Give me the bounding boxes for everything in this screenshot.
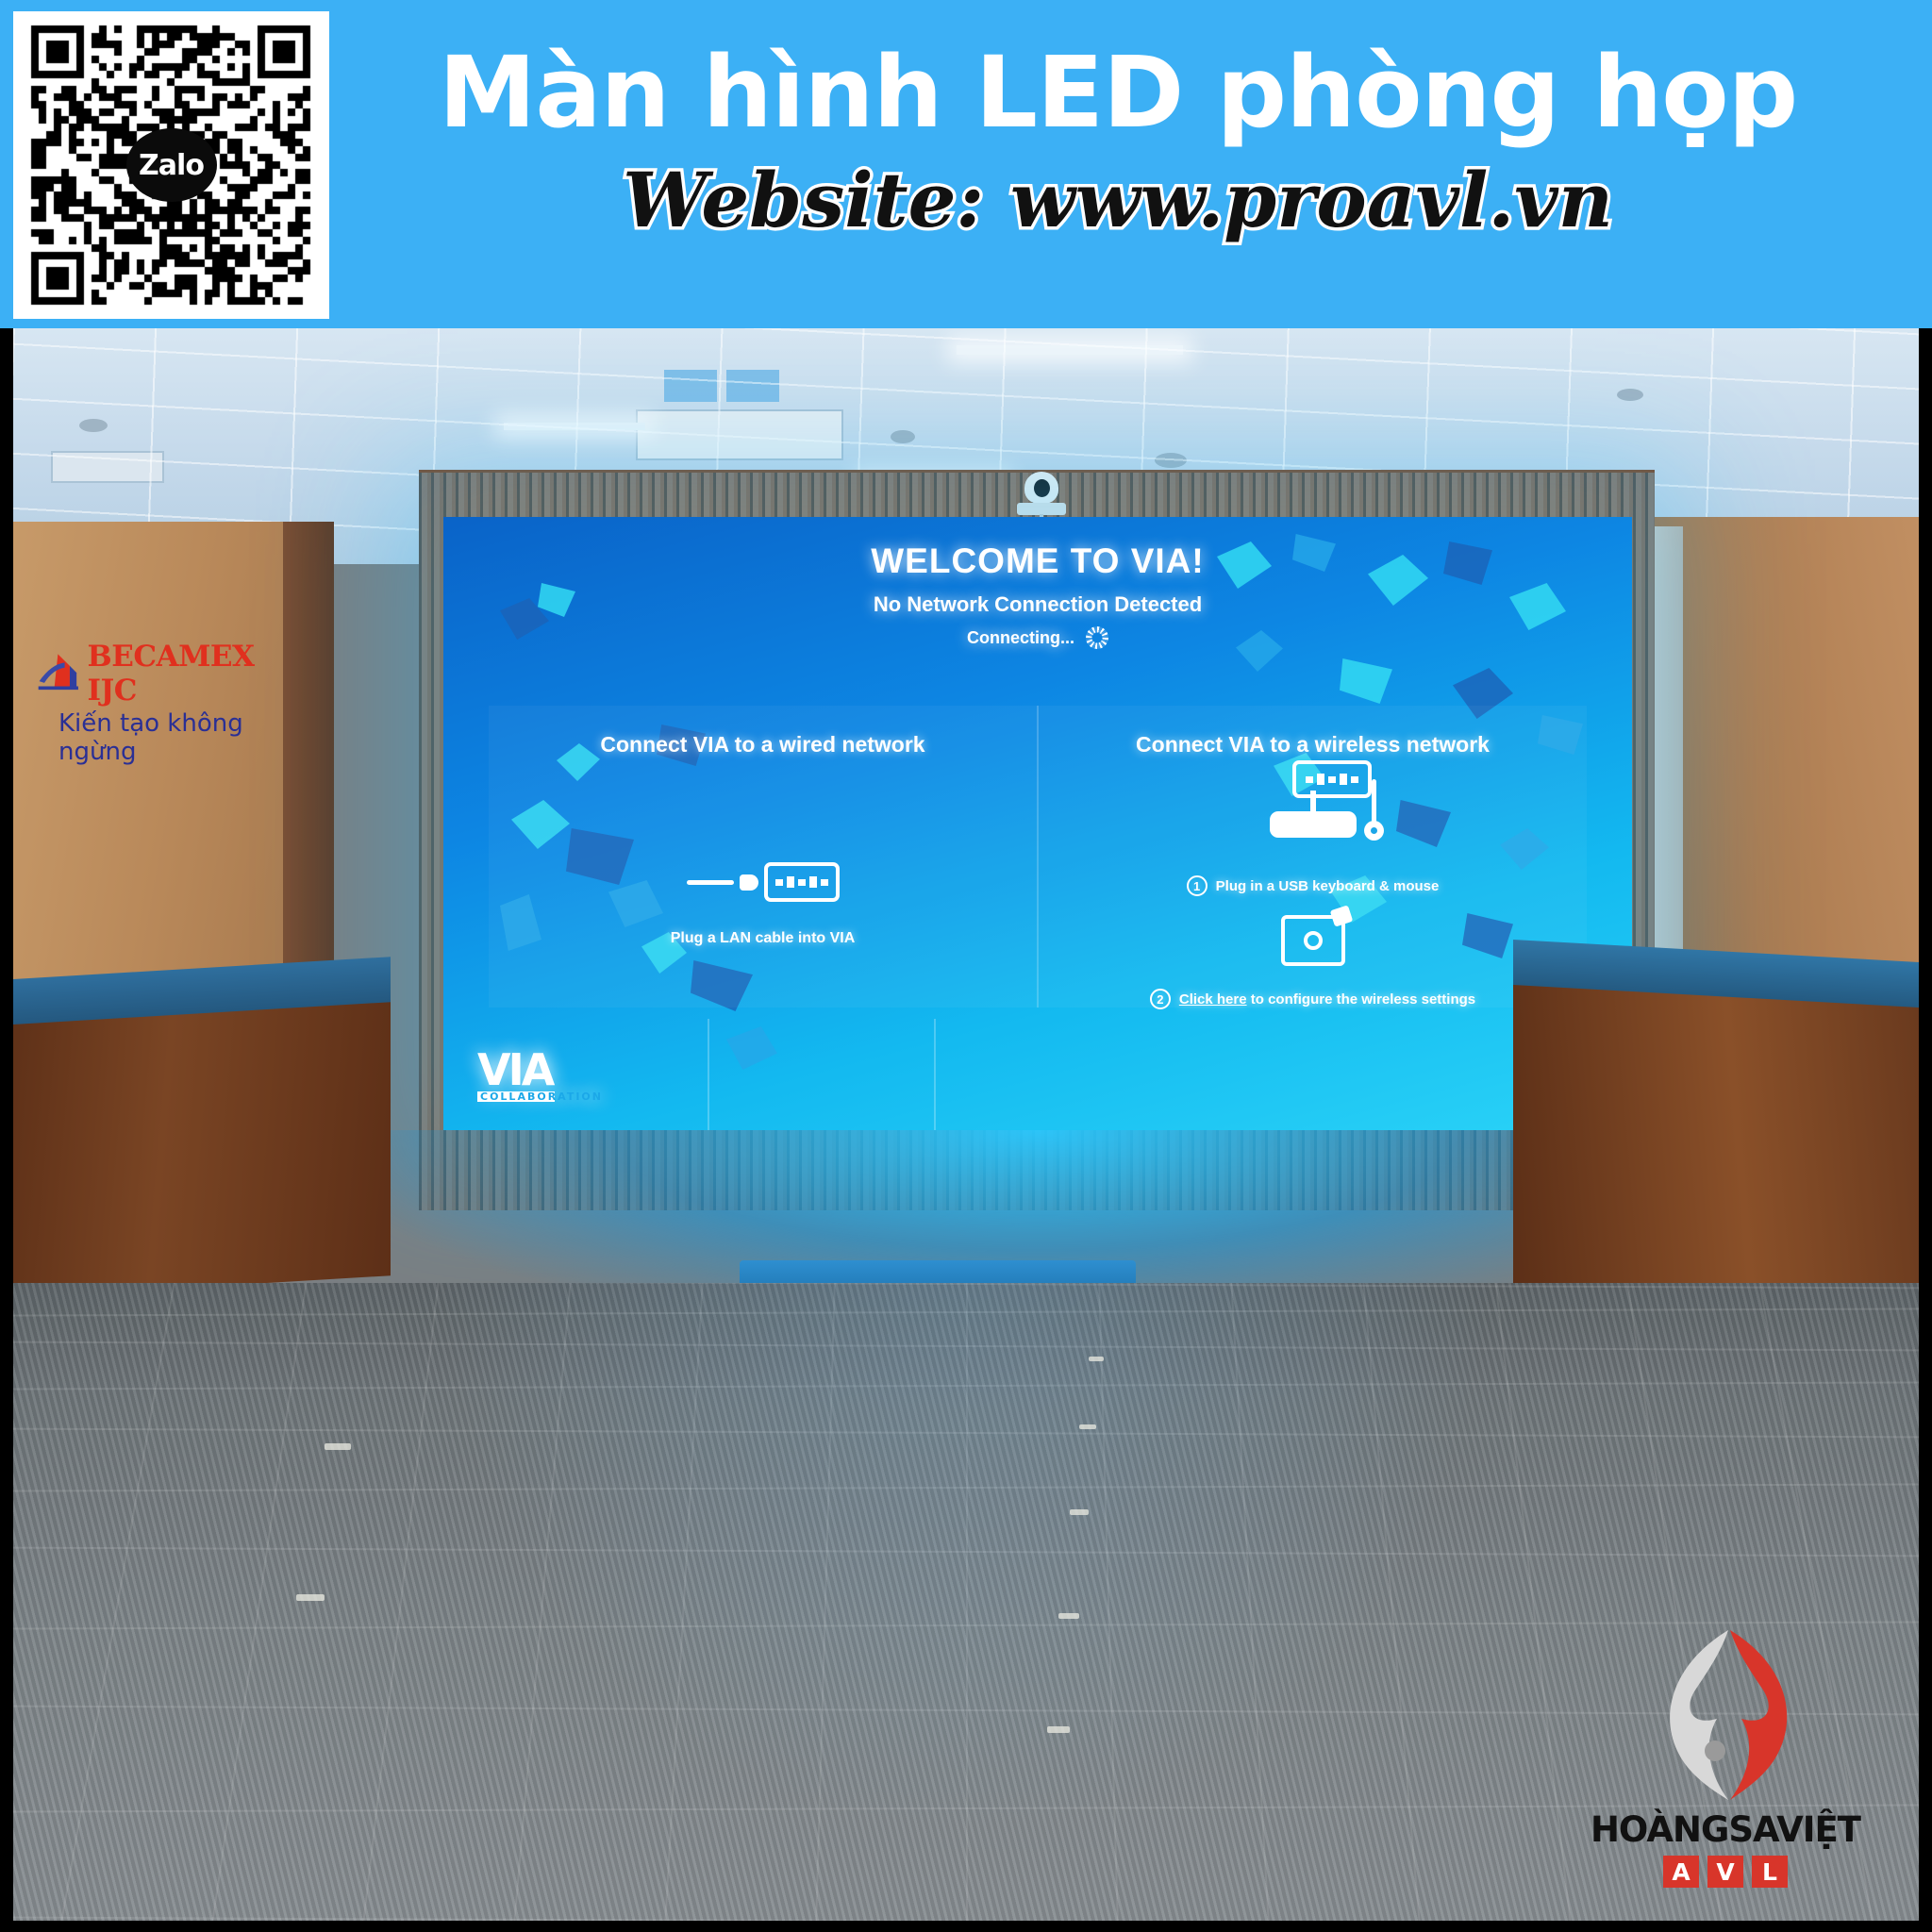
led-panel-seam — [708, 1019, 709, 1130]
via-wired-heading: Connect VIA to a wired network — [489, 706, 1037, 758]
lan-cable-icon — [489, 849, 1037, 915]
zalo-qr-code[interactable]: Zalo — [13, 11, 329, 319]
via-welcome-header: WELCOME TO VIA! No Network Connection De… — [443, 541, 1632, 649]
watermark-company: HOÀNGSAVIỆT — [1579, 1809, 1872, 1850]
zalo-logo-text: Zalo — [139, 149, 204, 182]
becamex-mark-icon — [36, 650, 82, 697]
banner: Zalo Màn hình LED phòng họp Website: www… — [0, 0, 1932, 328]
led-video-wall[interactable]: WELCOME TO VIA! No Network Connection De… — [443, 517, 1632, 1130]
via-logo-subtext: COLLABORATION — [477, 1091, 555, 1102]
hoangsaviet-watermark: HOÀNGSAVIỆT A V L — [1579, 1621, 1872, 1894]
floor-reflection — [357, 1283, 1576, 1921]
led-panel-seam — [934, 1019, 936, 1130]
loading-spinner-icon — [1086, 626, 1108, 649]
step-1-number: 1 — [1187, 875, 1207, 896]
badge-v: V — [1707, 1856, 1743, 1888]
poster-root: Zalo Màn hình LED phòng họp Website: www… — [0, 0, 1932, 1932]
step-2-text: to configure the wireless settings — [1247, 991, 1476, 1008]
via-step-1: 1 Plug in a USB keyboard & mouse — [1039, 875, 1587, 896]
becamex-tagline: Kiến tạo không ngừng — [58, 709, 291, 766]
banner-website: Website: www.proavl.vn — [340, 162, 1896, 238]
becamex-logo: BECAMEX IJC Kiến tạo không ngừng — [36, 640, 291, 766]
step-2-number: 2 — [1150, 989, 1171, 1009]
ptz-camera-icon — [1017, 472, 1066, 521]
badge-a: A — [1663, 1856, 1699, 1888]
step-1-text: Plug in a USB keyboard & mouse — [1216, 878, 1440, 894]
via-step-2[interactable]: 2 Click here to configure the wireless s… — [1039, 989, 1587, 1009]
zalo-logo-badge: Zalo — [126, 128, 217, 202]
via-wired-column: Connect VIA to a wired network Plug a LA… — [489, 706, 1037, 1008]
via-wireless-heading: Connect VIA to a wireless network — [1039, 706, 1587, 758]
carpet-tile-line — [211, 1283, 307, 1921]
wireless-settings-monitor-icon — [1039, 908, 1587, 974]
via-logo: VIA COLLABORATION — [477, 1052, 555, 1102]
meeting-room-photo: BECAMEX IJC Kiến tạo không ngừng — [13, 328, 1919, 1921]
via-logo-text: VIA — [477, 1044, 552, 1095]
via-wired-caption: Plug a LAN cable into VIA — [489, 930, 1037, 947]
via-network-status: No Network Connection Detected — [443, 592, 1632, 617]
carpet-tile-line — [60, 1283, 175, 1921]
via-wireless-column: Connect VIA to a wireless network 1 Plug… — [1037, 706, 1587, 1008]
watermark-avl-badges: A V L — [1579, 1856, 1872, 1888]
desk-right-body — [1513, 966, 1919, 1309]
flame-logo-icon — [1617, 1621, 1834, 1809]
badge-l: L — [1752, 1856, 1788, 1888]
configure-wireless-link[interactable]: Click here — [1179, 991, 1247, 1008]
via-instruction-columns: Connect VIA to a wired network Plug a LA… — [489, 706, 1587, 1008]
wireless-router-icon — [1039, 755, 1587, 870]
via-title: WELCOME TO VIA! — [443, 541, 1632, 581]
via-connecting-row: Connecting... — [443, 626, 1632, 649]
banner-title: Màn hình LED phòng họp — [340, 43, 1896, 142]
becamex-brand: BECAMEX IJC — [88, 640, 291, 708]
via-connecting-label: Connecting... — [967, 628, 1074, 648]
desk-left-body — [13, 983, 391, 1298]
